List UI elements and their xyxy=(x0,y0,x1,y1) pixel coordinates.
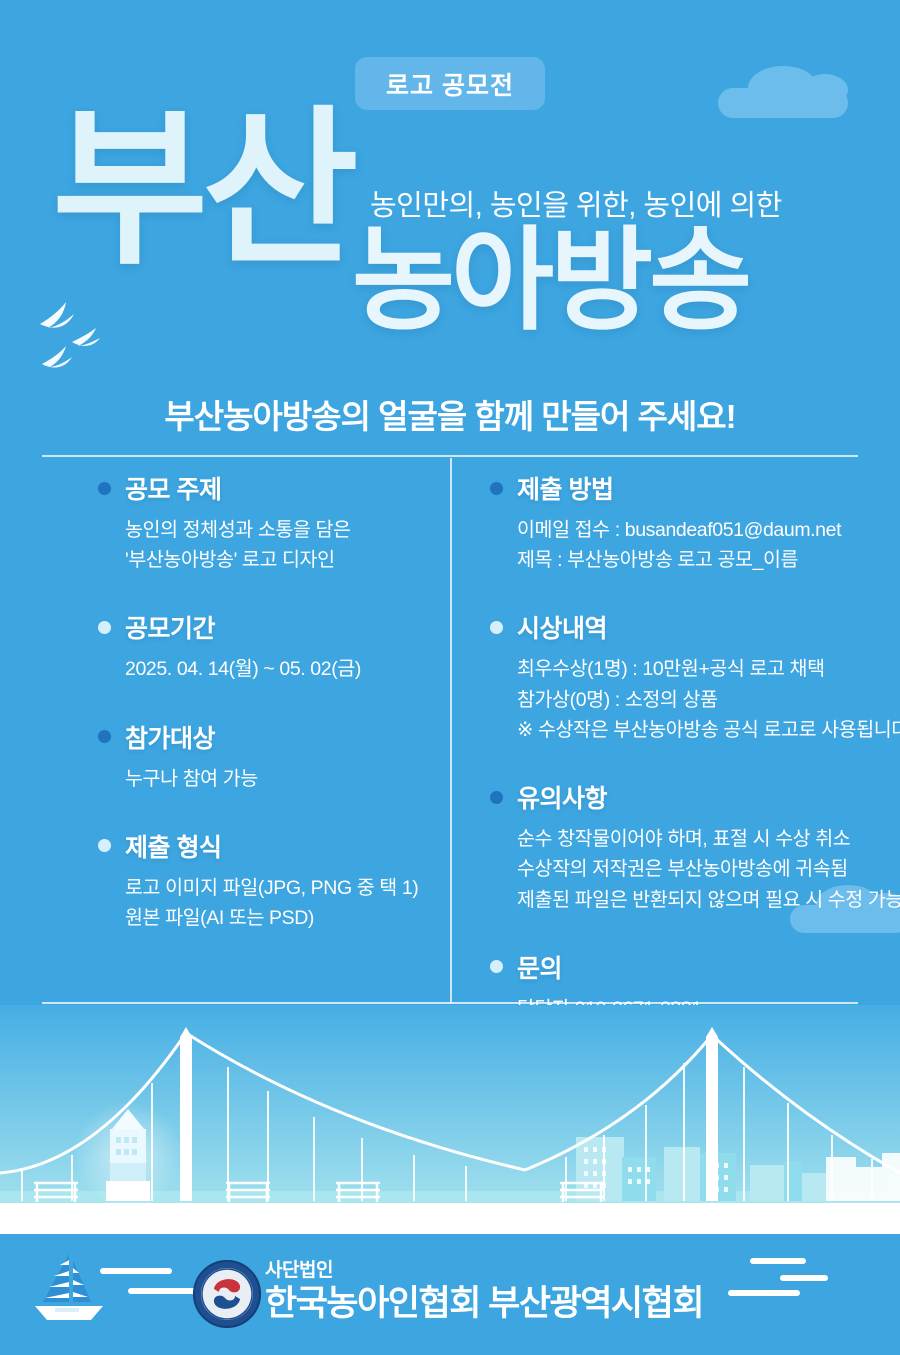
decor-line-left-2 xyxy=(128,1288,200,1294)
info-column-left: 공모 주제농인의 정체성과 소통을 담은'부산농아방송' 로고 디자인공모기간2… xyxy=(98,470,428,933)
info-section-header: 공모기간 xyxy=(98,609,428,645)
info-section-title: 제출 형식 xyxy=(125,828,221,864)
info-section-body: 순수 창작물이어야 하며, 표절 시 수상 취소수상작의 저작권은 부산농아방송… xyxy=(517,824,870,915)
decor-line-left-1 xyxy=(100,1268,172,1274)
info-line: 이메일 접수 : busandeaf051@daum.net xyxy=(517,515,870,545)
sailboat-icon xyxy=(25,1250,115,1330)
info-section-body: 최우수상(1명) : 10만원+공식 로고 채택참가상(0명) : 소정의 상품… xyxy=(517,654,870,745)
info-section-title: 공모 주제 xyxy=(125,470,221,506)
cloud-icon-top-right xyxy=(718,88,848,118)
info-line: 제출된 파일은 반환되지 않으며 필요 시 수정 가능 xyxy=(517,885,870,915)
info-section-title: 제출 방법 xyxy=(517,470,613,506)
bullet-dot-icon xyxy=(98,482,111,495)
info-section-title: 유의사항 xyxy=(517,779,607,815)
info-section: 제출 방법이메일 접수 : busandeaf051@daum.net제목 : … xyxy=(490,470,870,575)
info-section-body: 로고 이미지 파일(JPG, PNG 중 택 1)원본 파일(AI 또는 PSD… xyxy=(125,873,428,933)
divider-top xyxy=(42,455,858,457)
org-prefix: 사단법인 xyxy=(265,1261,703,1282)
info-section-header: 제출 형식 xyxy=(98,828,428,864)
info-section-header: 공모 주제 xyxy=(98,470,428,506)
info-section: 제출 형식로고 이미지 파일(JPG, PNG 중 택 1)원본 파일(AI 또… xyxy=(98,828,428,933)
info-line: 수상작의 저작권은 부산농아방송에 귀속됨 xyxy=(517,854,870,884)
info-section-body: 2025. 04. 14(월) ~ 05. 02(금) xyxy=(125,654,428,684)
info-section-header: 제출 방법 xyxy=(490,470,870,506)
info-line: 최우수상(1명) : 10만원+공식 로고 채택 xyxy=(517,654,870,684)
info-line: '부산농아방송' 로고 디자인 xyxy=(125,545,428,575)
info-section-header: 문의 xyxy=(490,949,870,985)
info-section-title: 참가대상 xyxy=(125,719,215,755)
info-section-body: 이메일 접수 : busandeaf051@daum.net제목 : 부산농아방… xyxy=(517,515,870,575)
deck-band xyxy=(0,1220,900,1234)
info-line: 로고 이미지 파일(JPG, PNG 중 택 1) xyxy=(125,873,428,903)
bullet-dot-icon xyxy=(98,839,111,852)
bullet-dot-icon xyxy=(490,791,503,804)
info-section-header: 유의사항 xyxy=(490,779,870,815)
association-emblem-icon xyxy=(192,1259,262,1329)
info-column-right: 제출 방법이메일 접수 : busandeaf051@daum.net제목 : … xyxy=(490,470,870,1054)
info-section: 공모기간2025. 04. 14(월) ~ 05. 02(금) xyxy=(98,609,428,684)
info-section: 공모 주제농인의 정체성과 소통을 담은'부산농아방송' 로고 디자인 xyxy=(98,470,428,575)
info-section-title: 문의 xyxy=(517,949,562,985)
seagull-icon-group xyxy=(34,288,144,388)
divider-vertical xyxy=(450,458,452,1003)
hero-subtitle: 부산농아방송의 얼굴을 함께 만들어 주세요! xyxy=(0,390,900,438)
category-badge: 로고 공모전 xyxy=(355,57,545,110)
info-line: 순수 창작물이어야 하며, 표절 시 수상 취소 xyxy=(517,824,870,854)
info-section: 참가대상누구나 참여 가능 xyxy=(98,719,428,794)
info-section-body: 농인의 정체성과 소통을 담은'부산농아방송' 로고 디자인 xyxy=(125,515,428,575)
info-section: 시상내역최우수상(1명) : 10만원+공식 로고 채택참가상(0명) : 소정… xyxy=(490,609,870,745)
info-line: 누구나 참여 가능 xyxy=(125,764,428,794)
page-title-sub: 농아방송 xyxy=(352,225,748,337)
info-section-title: 공모기간 xyxy=(125,609,215,645)
info-line: 원본 파일(AI 또는 PSD) xyxy=(125,903,428,933)
info-line: 농인의 정체성과 소통을 담은 xyxy=(125,515,428,545)
info-section-header: 시상내역 xyxy=(490,609,870,645)
decor-line-right-1 xyxy=(750,1258,806,1264)
info-line: ※ 수상작은 부산농아방송 공식 로고로 사용됩니다. xyxy=(517,715,870,745)
info-section-title: 시상내역 xyxy=(517,609,607,645)
bullet-dot-icon xyxy=(98,730,111,743)
page-title-main: 부산 xyxy=(52,112,353,268)
info-section: 유의사항순수 창작물이어야 하며, 표절 시 수상 취소수상작의 저작권은 부산… xyxy=(490,779,870,915)
info-section-body: 누구나 참여 가능 xyxy=(125,764,428,794)
bullet-dot-icon xyxy=(490,960,503,973)
info-line: 2025. 04. 14(월) ~ 05. 02(금) xyxy=(125,654,428,684)
bridge-illustration xyxy=(0,1005,900,1220)
organization-block: 사단법인 한국농아인협회 부산광역시협회 xyxy=(265,1261,703,1325)
bullet-dot-icon xyxy=(490,482,503,495)
info-line: 제목 : 부산농아방송 로고 공모_이름 xyxy=(517,545,870,575)
poster-root: 로고 공모전 부산 농인만의, 농인을 위한, 농인에 의한 농아방송 부산농아… xyxy=(0,0,900,1355)
bullet-dot-icon xyxy=(490,621,503,634)
info-line: 참가상(0명) : 소정의 상품 xyxy=(517,685,870,715)
bullet-dot-icon xyxy=(98,621,111,634)
decor-line-right-2 xyxy=(780,1275,828,1281)
decor-line-right-3 xyxy=(728,1290,800,1296)
org-name: 한국농아인협회 부산광역시협회 xyxy=(265,1283,703,1325)
info-section-header: 참가대상 xyxy=(98,719,428,755)
